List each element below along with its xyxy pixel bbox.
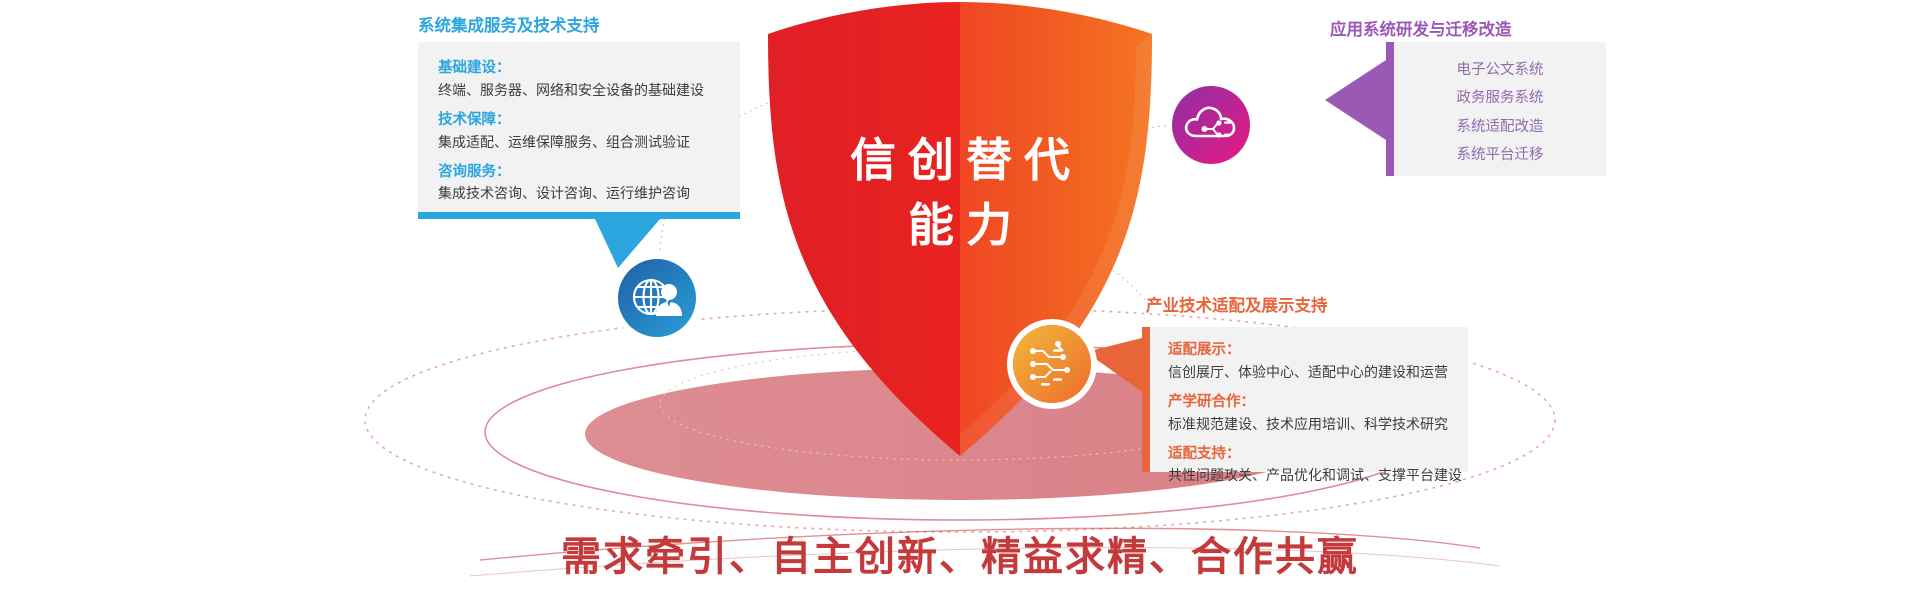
orange-panel-item-2-value: 共性问题攻关、产品优化和调试、支撑平台建设 [1168,465,1454,486]
left-panel-item-0-value: 终端、服务器、网络和安全设备的基础建设 [438,80,722,101]
left-panel-item-0-key: 基础建设： [438,58,722,80]
orange-panel-item-0-key: 适配展示： [1168,340,1454,362]
left-panel-item-1-key: 技术保障： [438,110,722,132]
purple-panel-item-0[interactable]: 电子公文系统 [1394,56,1606,84]
purple-panel-item-2[interactable]: 系统适配改造 [1394,113,1606,141]
orange-panel-item-1-key: 产学研合作： [1168,392,1454,414]
left-panel-item-0: 基础建设： 终端、服务器、网络和安全设备的基础建设 [438,58,722,101]
left-panel-item-1-value: 集成适配、运维保障服务、组合测试验证 [438,132,722,153]
globe-person-icon[interactable] [618,259,696,337]
central-shield [740,0,1180,464]
left-panel-accent-bar [418,212,740,219]
orange-panel-item-1: 产学研合作： 标准规范建设、技术应用培训、科学技术研究 [1168,392,1454,435]
orange-panel-item-2: 适配支持： 共性问题攻关、产品优化和调试、支撑平台建设 [1168,444,1454,487]
orange-panel[interactable]: 适配展示： 信创展厅、体验中心、适配中心的建设和运营 产学研合作： 标准规范建设… [1150,327,1468,472]
orange-panel-item-2-key: 适配支持： [1168,444,1454,466]
orange-panel-item-0: 适配展示： 信创展厅、体验中心、适配中心的建设和运营 [1168,340,1454,383]
purple-panel-item-3[interactable]: 系统平台迁移 [1394,141,1606,169]
left-panel-item-2-key: 咨询服务： [438,162,722,184]
slogan-text: 需求牵引、自主创新、精益求精、合作共赢 [0,524,1920,582]
left-panel-item-1: 技术保障： 集成适配、运维保障服务、组合测试验证 [438,110,722,153]
orange-panel-item-1-value: 标准规范建设、技术应用培训、科学技术研究 [1168,414,1454,435]
orange-panel-title: 产业技术适配及展示支持 [1146,292,1328,316]
circuit-nodes-icon[interactable] [1013,325,1091,403]
left-panel-title: 系统集成服务及技术支持 [418,12,600,36]
left-panel-item-2: 咨询服务： 集成技术咨询、设计咨询、运行维护咨询 [438,162,722,205]
orange-panel-accent-bar [1142,327,1150,472]
left-panel[interactable]: 基础建设： 终端、服务器、网络和安全设备的基础建设 技术保障： 集成适配、运维保… [418,42,740,212]
cloud-network-icon[interactable] [1172,86,1250,164]
purple-panel-pointer [1325,60,1386,140]
infographic-canvas: 信创替代 能力 系统集成服务及技术支持 基础建设： 终端、服务器、网络和安全设备… [0,0,1920,605]
left-panel-item-2-value: 集成技术咨询、设计咨询、运行维护咨询 [438,183,722,204]
purple-panel-item-1[interactable]: 政务服务系统 [1394,84,1606,112]
purple-panel-title: 应用系统研发与迁移改造 [1330,16,1512,40]
orange-panel-item-0-value: 信创展厅、体验中心、适配中心的建设和运营 [1168,362,1454,383]
purple-panel[interactable]: 电子公文系统 政务服务系统 系统适配改造 系统平台迁移 [1394,42,1606,176]
purple-panel-accent-bar [1386,42,1394,176]
